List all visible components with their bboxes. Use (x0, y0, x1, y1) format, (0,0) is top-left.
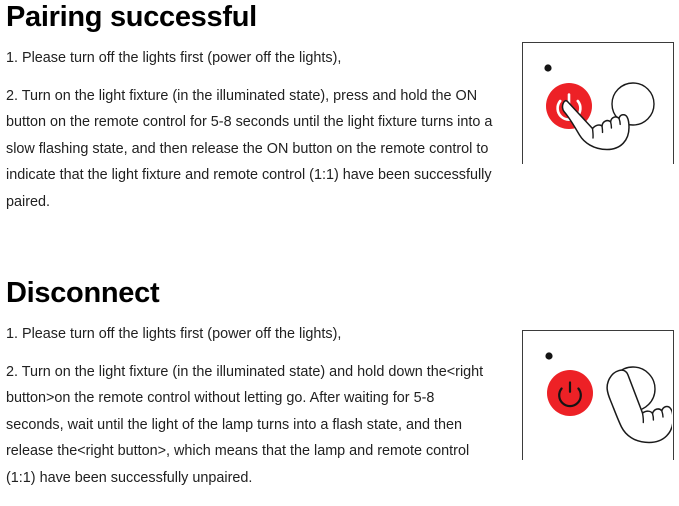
pairing-step-2: 2. Turn on the light fixture (in the ill… (6, 83, 506, 216)
pairing-step-1: 1. Please turn off the lights first (pow… (6, 45, 511, 72)
illustration-remote-press-right-button (522, 330, 674, 460)
manual-page: Pairing successful 1. Please turn off th… (0, 0, 679, 506)
disconnect-step-2: 2. Turn on the light fixture (in the ill… (6, 359, 493, 492)
section-pairing-successful: Pairing successful 1. Please turn off th… (6, 0, 511, 215)
disconnect-step-1: 1. Please turn off the lights first (pow… (6, 321, 511, 348)
on-button[interactable] (547, 370, 593, 416)
page-title-pairing: Pairing successful (6, 0, 511, 34)
section-disconnect: Disconnect 1. Please turn off the lights… (6, 276, 511, 491)
page-title-disconnect: Disconnect (6, 276, 511, 310)
remote-control-diagram-disconnect (523, 331, 672, 460)
led-dot-icon (544, 64, 551, 71)
illustration-remote-press-on-button (522, 42, 674, 164)
remote-control-diagram-pairing (523, 43, 672, 164)
led-dot-icon (545, 352, 552, 359)
